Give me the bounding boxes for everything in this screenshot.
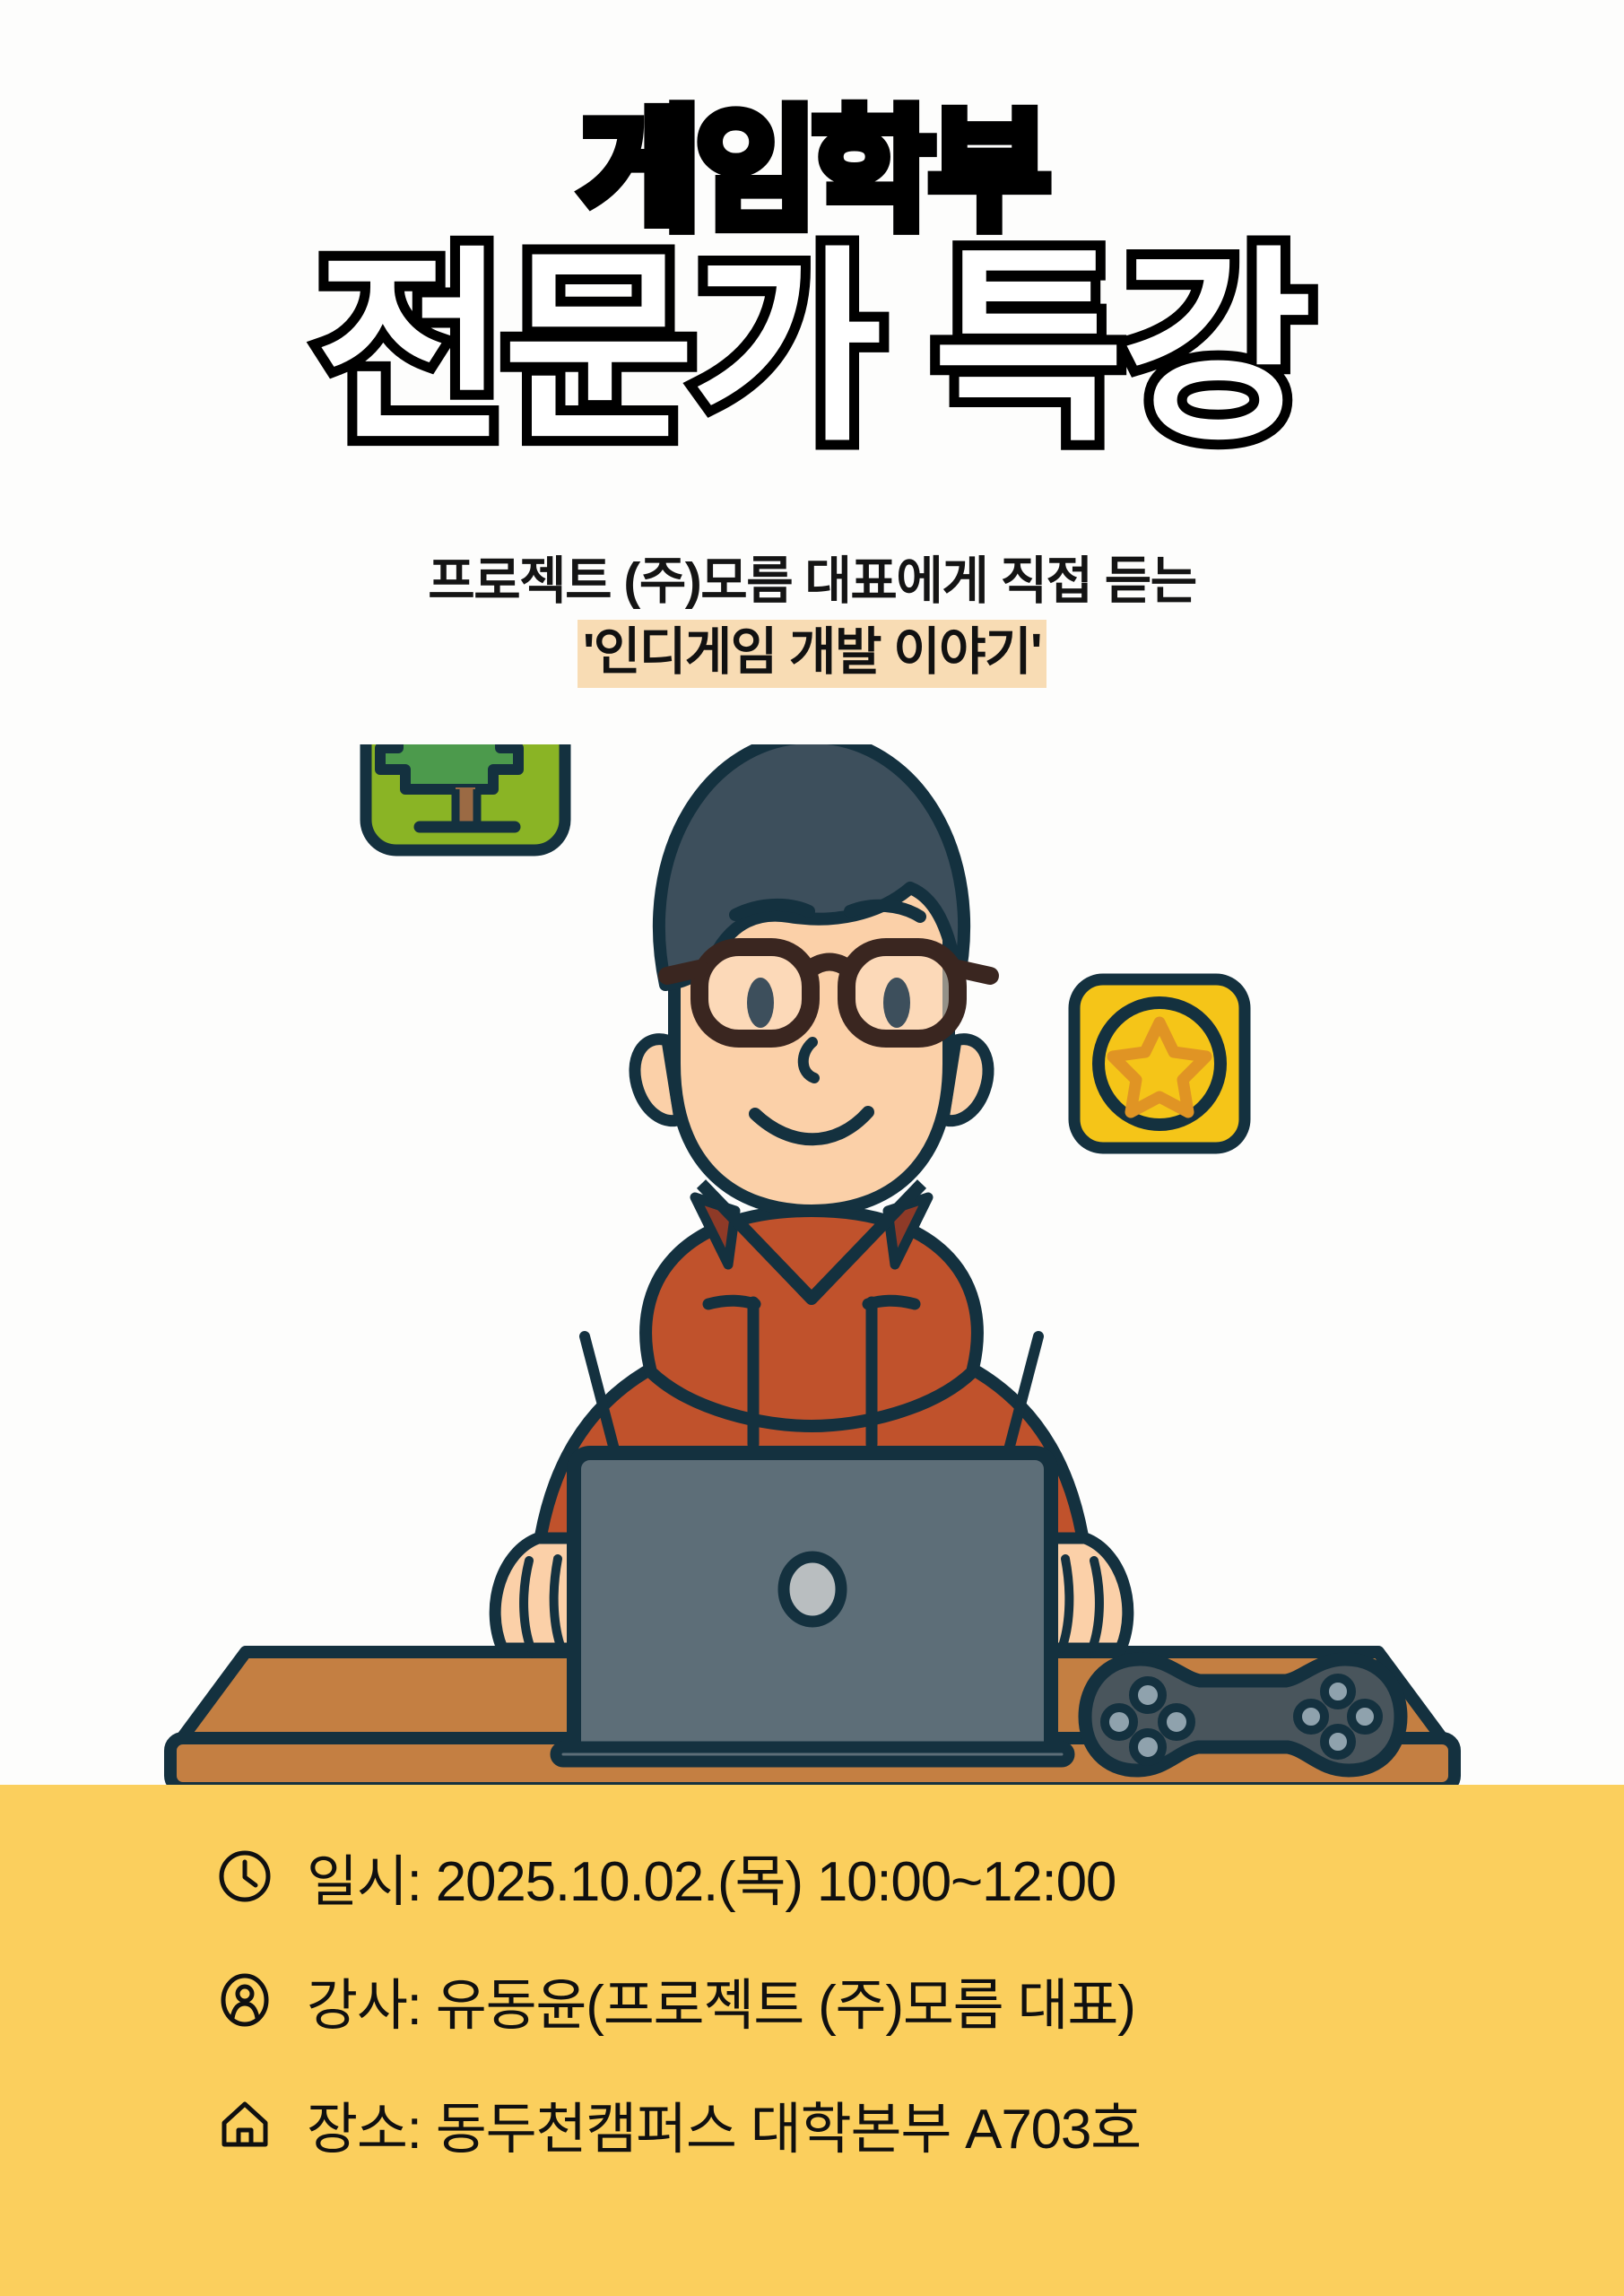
subtitle-line1: 프로젝트 (주)모름 대표에게 직접 듣는 <box>0 549 1624 614</box>
game-controller-icon <box>1085 1659 1401 1770</box>
info-row-date: 일시: 2025.10.02.(목) 10:00~12:00 <box>215 1835 1570 1918</box>
person-icon <box>215 1970 274 2030</box>
info-row-location: 장소: 동두천캠퍼스 대학본부 A703호 <box>215 2083 1570 2165</box>
illustration-svg <box>0 744 1624 1803</box>
info-text-speaker: 강사: 유동윤(프로젝트 (주)모름 대표) <box>307 1960 1135 2040</box>
illustration <box>0 744 1624 1803</box>
star-coin-badge-icon <box>1074 979 1245 1148</box>
subtitle-block: 프로젝트 (주)모름 대표에게 직접 듣는 '인디게임 개발 이야기' <box>0 549 1624 685</box>
page-title-line1: 게임학부 <box>0 106 1624 239</box>
info-panel: 일시: 2025.10.02.(목) 10:00~12:00 강사: 유동윤(프… <box>0 1785 1624 2296</box>
character-head <box>635 744 990 1211</box>
info-rows: 일시: 2025.10.02.(목) 10:00~12:00 강사: 유동윤(프… <box>215 1835 1570 2206</box>
home-icon <box>215 2094 274 2153</box>
title-block: 게임학부 전문가 특강 <box>0 106 1624 457</box>
subtitle-line2: '인디게임 개발 이야기' <box>0 620 1624 685</box>
subtitle-highlight: '인디게임 개발 이야기' <box>578 620 1046 688</box>
laptop <box>556 1453 1069 1761</box>
info-row-speaker: 강사: 유동윤(프로젝트 (주)모름 대표) <box>215 1959 1570 2041</box>
poster-root: 게임학부 전문가 특강 프로젝트 (주)모름 대표에게 직접 듣는 '인디게임 … <box>0 0 1624 2296</box>
tree-badge-icon <box>366 744 565 850</box>
info-text-location: 장소: 동두천캠퍼스 대학본부 A703호 <box>307 2083 1141 2164</box>
clock-icon <box>215 1847 274 1906</box>
info-text-date: 일시: 2025.10.02.(목) 10:00~12:00 <box>307 1836 1116 1917</box>
page-title-line2: 전문가 특강 <box>0 244 1624 457</box>
